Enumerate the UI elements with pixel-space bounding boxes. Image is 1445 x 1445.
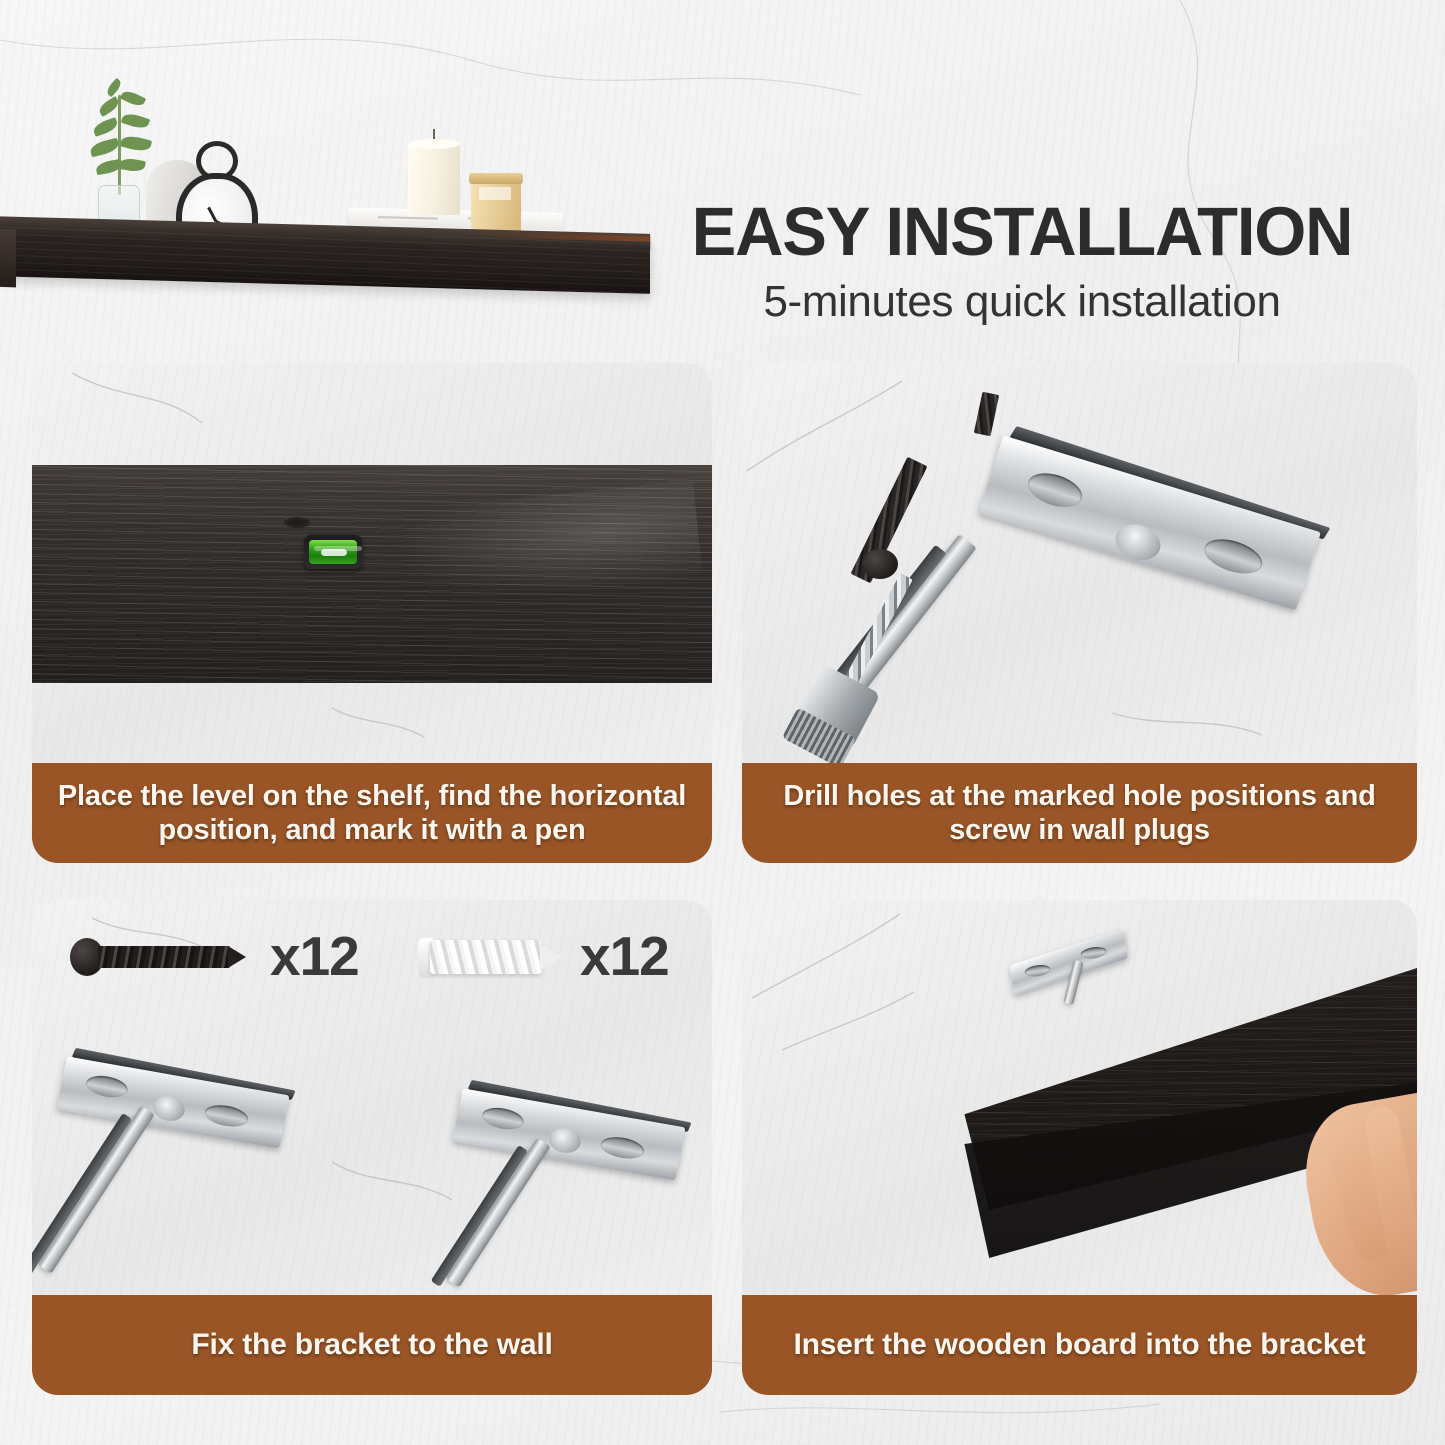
screw-quantity: x12: [270, 924, 359, 988]
level-bubble: [321, 549, 347, 556]
step-1-caption: Place the level on the shelf, find the h…: [32, 763, 712, 863]
parts-wall-plug: [430, 940, 542, 974]
shelf-board: [32, 465, 712, 683]
screw-head: [862, 549, 898, 579]
step-2-photo: [742, 363, 1417, 763]
step-4-photo: [742, 900, 1417, 1295]
step-3-caption-text: Fix the bracket to the wall: [191, 1327, 552, 1362]
step-2-caption: Drill holes at the marked hole positions…: [742, 763, 1417, 863]
parts-screw-tip: [228, 946, 246, 968]
step-2-caption-text: Drill holes at the marked hole positions…: [756, 779, 1403, 847]
plug-quantity: x12: [580, 924, 669, 988]
step-card-4: Insert the wooden board into the bracket: [742, 900, 1417, 1395]
parts-screw-shaft: [98, 946, 230, 968]
step-4-caption: Insert the wooden board into the bracket: [742, 1295, 1417, 1395]
level-vial: [309, 540, 357, 564]
step-3-caption: Fix the bracket to the wall: [32, 1295, 712, 1395]
step-card-3: x12 x12: [32, 900, 712, 1395]
installation-steps-grid: Place the level on the shelf, find the h…: [0, 0, 1445, 1445]
step-3-photo: x12 x12: [32, 900, 712, 1295]
step-4-caption-text: Insert the wooden board into the bracket: [793, 1327, 1365, 1362]
step-1-photo: [32, 363, 712, 763]
step-card-2: Drill holes at the marked hole positions…: [742, 363, 1417, 863]
parts-plug-tip: [540, 944, 562, 970]
step-1-caption-text: Place the level on the shelf, find the h…: [46, 779, 698, 847]
step-card-1: Place the level on the shelf, find the h…: [32, 363, 712, 863]
bubble-level: [304, 535, 362, 569]
